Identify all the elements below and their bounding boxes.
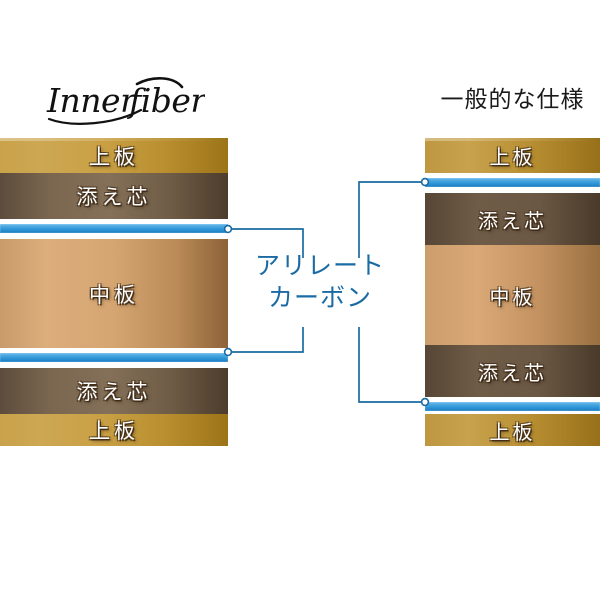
- center-callout: アリレート カーボン: [244, 250, 396, 314]
- diagram-canvas: Inner fiber 一般的な仕様 上板添え芯中板添え芯上板 上板添え芯中板添…: [0, 0, 600, 600]
- callout-line-2: カーボン: [244, 282, 396, 314]
- callout-line-1: アリレート: [244, 250, 396, 282]
